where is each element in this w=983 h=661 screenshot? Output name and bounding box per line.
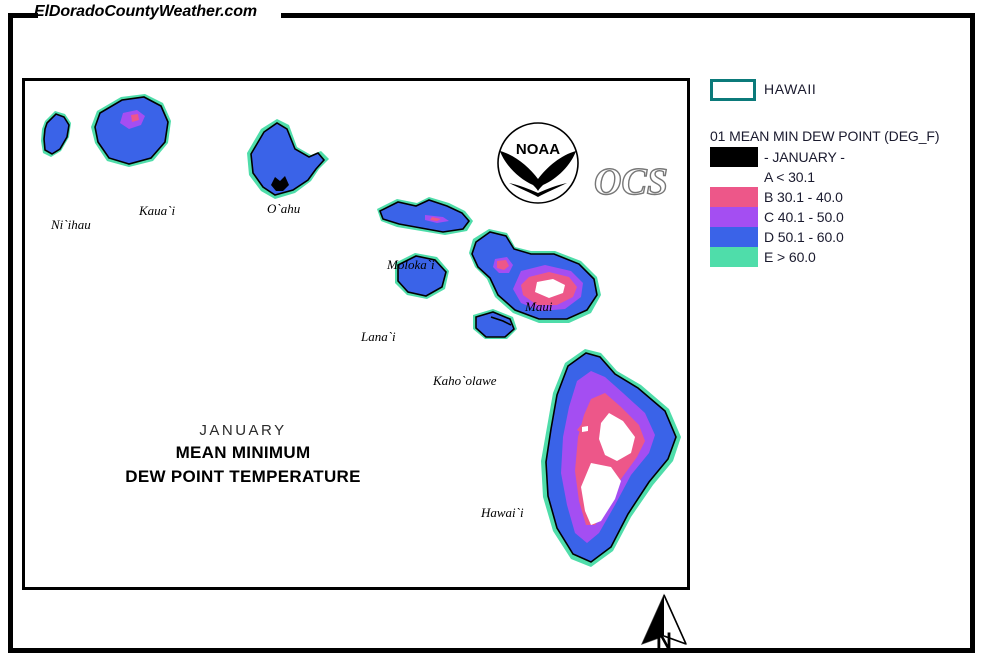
- legend-state-label: HAWAII: [764, 81, 816, 97]
- north-label: N: [638, 628, 690, 654]
- hawaii-islands-map: .coast{stroke:#000;stroke-width:1.6;fill…: [25, 81, 687, 587]
- banner-rule-right: [281, 13, 975, 18]
- legend-label-column: - JANUARY - A < 30.1 B 30.1 - 40.0 C 40.…: [764, 147, 845, 267]
- legend-swatch-a: [710, 147, 758, 167]
- island-niihau: [41, 111, 71, 157]
- legend-row-a: A < 30.1: [764, 167, 845, 187]
- legend-state-row: HAWAII: [706, 76, 968, 106]
- island-label-niihau: Ni`ihau: [51, 217, 91, 233]
- legend-swatch-column: [710, 147, 758, 267]
- island-label-oahu: O`ahu: [267, 201, 300, 217]
- map-title-line2: DEW POINT TEMPERATURE: [43, 465, 443, 489]
- map-title-block: JANUARY MEAN MINIMUM DEW POINT TEMPERATU…: [43, 421, 443, 489]
- legend-row-d: D 50.1 - 60.0: [764, 227, 845, 247]
- legend-subtitle: - JANUARY -: [764, 147, 845, 167]
- island-kahoolawe: [473, 309, 517, 339]
- map-panel[interactable]: .coast{stroke:#000;stroke-width:1.6;fill…: [22, 78, 690, 590]
- legend-swatch-d: [710, 227, 758, 247]
- legend-title: 01 MEAN MIN DEW POINT (DEG_F): [710, 128, 939, 144]
- noaa-wordmark: NOAA: [516, 141, 560, 158]
- legend-swatch-b: [710, 187, 758, 207]
- legend-swatch-e: [710, 247, 758, 267]
- legend-row-e: E > 60.0: [764, 247, 845, 267]
- island-label-lanai: Lana`i: [361, 329, 396, 345]
- legend-row-c: C 40.1 - 50.0: [764, 207, 845, 227]
- map-title-month: JANUARY: [43, 421, 443, 441]
- site-banner: ElDoradoCountyWeather.com: [0, 0, 983, 34]
- island-label-kauai: Kaua`i: [139, 203, 175, 219]
- ocs-text: OCS: [594, 161, 668, 203]
- legend-swatch-spacer: [710, 167, 758, 187]
- island-oahu: [247, 119, 329, 199]
- site-name: ElDoradoCountyWeather.com: [34, 3, 257, 21]
- island-kauai: [91, 94, 171, 167]
- island-label-maui: Maui: [525, 299, 552, 315]
- island-label-molokai: Moloka`i: [387, 257, 435, 273]
- map-title-line1: MEAN MINIMUM: [43, 441, 443, 465]
- ocs-wordmark: OCS: [590, 156, 690, 206]
- legend-swatch-c: [710, 207, 758, 227]
- island-label-kahoolawe: Kaho`olawe: [433, 373, 497, 389]
- island-hawaii: [541, 349, 681, 567]
- island-molokai: [377, 197, 473, 235]
- island-label-hawaii: Hawai`i: [481, 505, 524, 521]
- legend-row-b: B 30.1 - 40.0: [764, 187, 845, 207]
- noaa-logo: NOAA: [495, 121, 581, 205]
- legend-state-swatch: [710, 79, 756, 101]
- map-legend: HAWAII 01 MEAN MIN DEW POINT (DEG_F) - J…: [706, 76, 968, 106]
